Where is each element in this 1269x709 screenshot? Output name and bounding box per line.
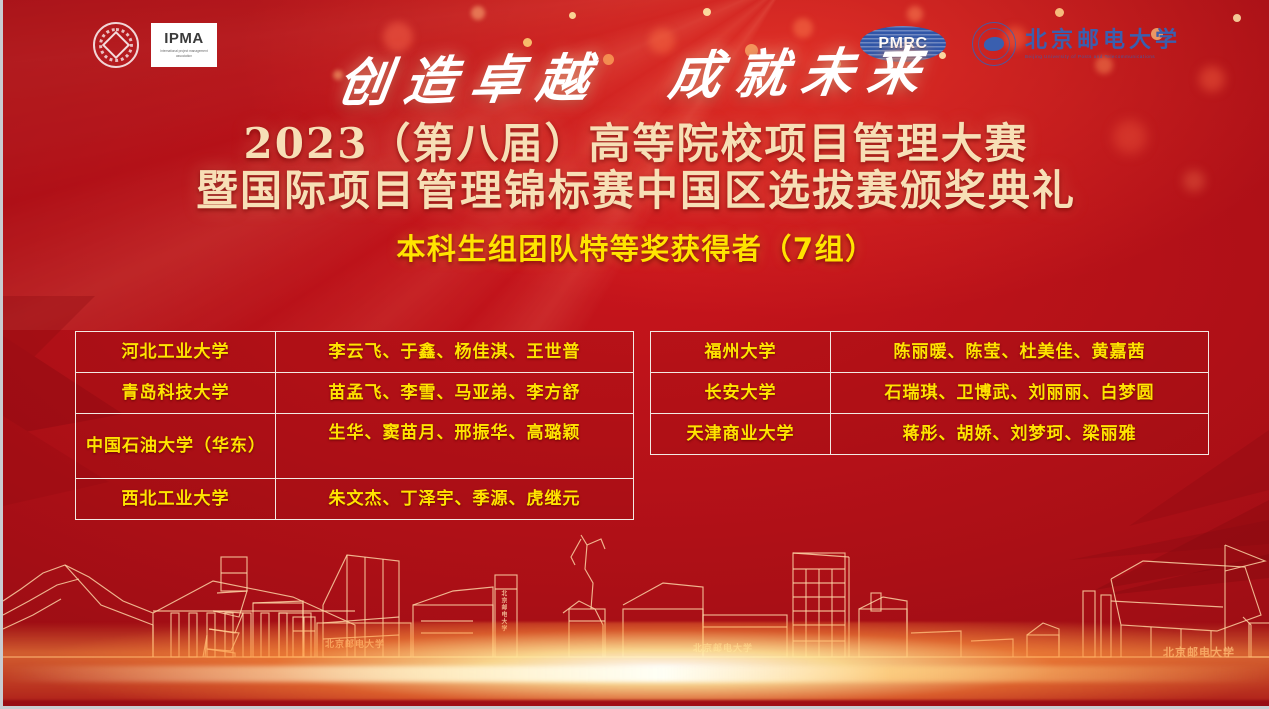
awards-right-body: 福州大学 陈丽暖、陈莹、杜美佳、黄嘉茜 长安大学 石瑞琪、卫博武、刘丽丽、白梦圆… — [651, 332, 1209, 455]
event-title-line-1: 2023（第八届）高等院校项目管理大赛 — [3, 120, 1269, 167]
school-cell: 河北工业大学 — [76, 332, 276, 373]
school-cell: 福州大学 — [651, 332, 831, 373]
members-cell: 李云飞、于鑫、杨佳淇、王世普 — [276, 332, 634, 373]
table-row: 河北工业大学 李云飞、于鑫、杨佳淇、王世普 — [76, 332, 634, 373]
table-row: 青岛科技大学 苗孟飞、李雪、马亚弟、李方舒 — [76, 373, 634, 414]
horizon-glow — [0, 622, 1269, 700]
table-row: 福州大学 陈丽暖、陈莹、杜美佳、黄嘉茜 — [651, 332, 1209, 373]
award-category-subtitle: 本科生组团队特等奖获得者（7组） — [3, 226, 1269, 268]
horizon-light-streak — [3, 666, 1269, 682]
members-cell: 石瑞琪、卫博武、刘丽丽、白梦圆 — [831, 373, 1209, 414]
event-title-line-2: 暨国际项目管理锦标赛中国区选拔赛颁奖典礼 — [3, 167, 1269, 214]
table-row: 天津商业大学 蒋彤、胡娇、刘梦珂、梁丽雅 — [651, 414, 1209, 455]
awards-left-body: 河北工业大学 李云飞、于鑫、杨佳淇、王世普 青岛科技大学 苗孟飞、李雪、马亚弟、… — [76, 332, 634, 520]
members-cell: 生华、窦苗月、邢振华、高璐颖 — [276, 414, 634, 479]
awards-table-right: 福州大学 陈丽暖、陈莹、杜美佳、黄嘉茜 长安大学 石瑞琪、卫博武、刘丽丽、白梦圆… — [650, 331, 1209, 455]
awards-table-left: 河北工业大学 李云飞、于鑫、杨佳淇、王世普 青岛科技大学 苗孟飞、李雪、马亚弟、… — [75, 331, 634, 520]
campus-skyline: 北京邮电大学 北京邮电大学 北京邮电大学 北京邮电大学 — [3, 506, 1269, 706]
headline-block: 创造卓越 成就未来 2023（第八届）高等院校项目管理大赛 暨国际项目管理锦标赛… — [3, 52, 1269, 268]
members-cell: 陈丽暖、陈莹、杜美佳、黄嘉茜 — [831, 332, 1209, 373]
members-cell: 苗孟飞、李雪、马亚弟、李方舒 — [276, 373, 634, 414]
table-row: 长安大学 石瑞琪、卫博武、刘丽丽、白梦圆 — [651, 373, 1209, 414]
school-cell: 青岛科技大学 — [76, 373, 276, 414]
awards-tables: 河北工业大学 李云飞、于鑫、杨佳淇、王世普 青岛科技大学 苗孟飞、李雪、马亚弟、… — [75, 331, 1213, 520]
members-cell: 蒋彤、胡娇、刘梦珂、梁丽雅 — [831, 414, 1209, 455]
school-cell: 长安大学 — [651, 373, 831, 414]
table-row: 中国石油大学（华东） 生华、窦苗月、邢振华、高璐颖 — [76, 414, 634, 479]
school-cell: 天津商业大学 — [651, 414, 831, 455]
poster-canvas: IPMA International project management as… — [0, 0, 1269, 709]
ipma-wordmark: IPMA — [164, 31, 204, 46]
school-cell: 中国石油大学（华东） — [76, 414, 276, 479]
